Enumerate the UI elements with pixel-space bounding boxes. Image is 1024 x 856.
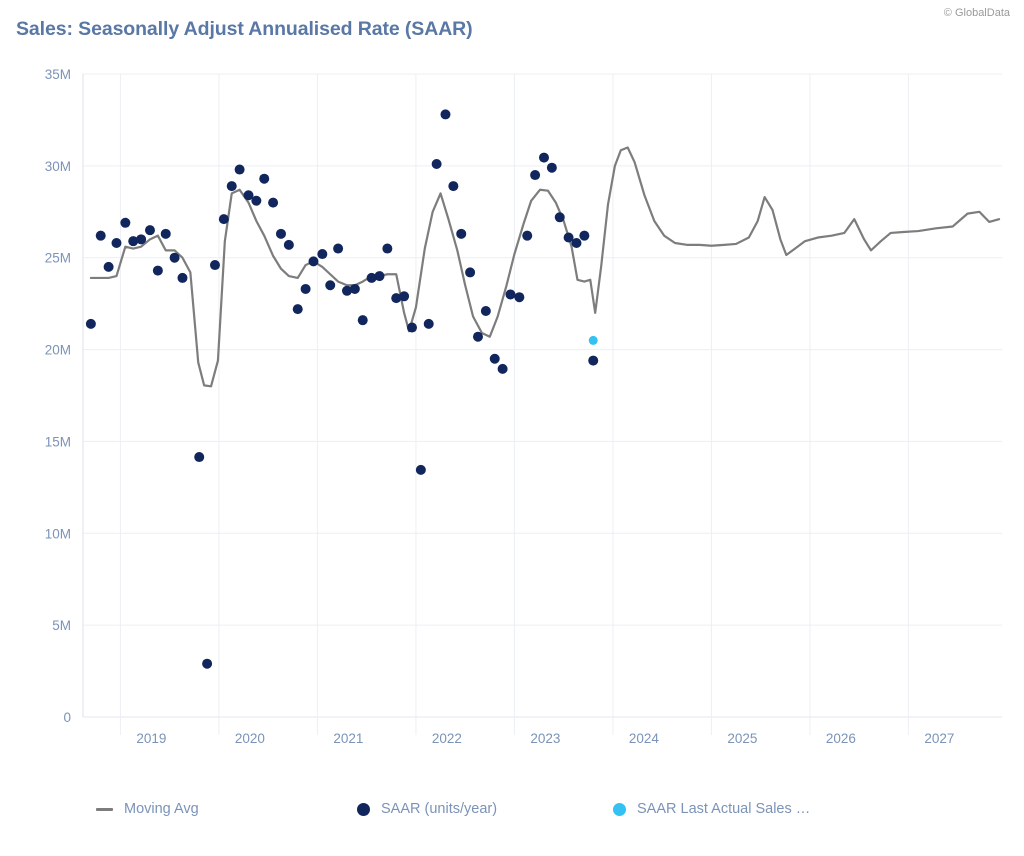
data-point[interactable] — [111, 238, 121, 248]
gridlines — [83, 74, 1002, 735]
data-point[interactable] — [194, 452, 204, 462]
data-point[interactable] — [104, 262, 114, 272]
moving-avg-line — [91, 147, 999, 386]
y-axis-tick-label: 15M — [45, 434, 71, 449]
data-point[interactable] — [284, 240, 294, 250]
data-point[interactable] — [555, 212, 565, 222]
data-point[interactable] — [490, 354, 500, 364]
legend-item-saar[interactable]: SAAR (units/year) — [357, 798, 497, 820]
y-axis-tick-label: 5M — [52, 618, 71, 633]
x-axis-tick-label: 2022 — [432, 731, 462, 746]
data-point[interactable] — [276, 229, 286, 239]
data-point[interactable] — [227, 181, 237, 191]
data-point[interactable] — [325, 280, 335, 290]
data-point[interactable] — [293, 304, 303, 314]
data-point[interactable] — [514, 292, 524, 302]
data-point[interactable] — [382, 244, 392, 254]
legend-item-saar-last-actual[interactable]: SAAR Last Actual Sales … — [613, 798, 810, 820]
chart-container: Sales: Seasonally Adjust Annualised Rate… — [0, 0, 1024, 856]
x-axis-tick-label: 2019 — [136, 731, 166, 746]
y-axis-tick-labels: 05M10M15M20M25M30M35M — [45, 67, 71, 725]
legend-item-label: SAAR (units/year) — [381, 801, 497, 817]
data-point[interactable] — [136, 234, 146, 244]
x-axis-tick-label: 2025 — [727, 731, 757, 746]
data-point[interactable] — [456, 229, 466, 239]
data-point[interactable] — [399, 291, 409, 301]
dot-marker-icon — [613, 803, 626, 816]
data-point[interactable] — [120, 218, 130, 228]
data-point[interactable] — [448, 181, 458, 191]
y-axis-tick-label: 30M — [45, 159, 71, 174]
x-axis-tick-label: 2020 — [235, 731, 265, 746]
x-axis-tick-label: 2027 — [924, 731, 954, 746]
saar-scatter-chart: 05M10M15M20M25M30M35M 201920202021202220… — [0, 0, 1024, 790]
data-point[interactable] — [301, 284, 311, 294]
x-axis-tick-labels: 201920202021202220232024202520262027 — [136, 731, 954, 746]
line-marker-icon — [96, 808, 113, 811]
plot-area: 05M10M15M20M25M30M35M 201920202021202220… — [0, 0, 1024, 790]
x-axis-tick-label: 2021 — [333, 731, 363, 746]
y-axis-tick-label: 10M — [45, 526, 71, 541]
data-point[interactable] — [539, 153, 549, 163]
data-point[interactable] — [333, 244, 343, 254]
data-point[interactable] — [432, 159, 442, 169]
saar-data-points — [86, 109, 598, 668]
data-point[interactable] — [177, 273, 187, 283]
legend-item-label: SAAR Last Actual Sales … — [637, 801, 810, 817]
data-point[interactable] — [374, 271, 384, 281]
data-point[interactable] — [589, 336, 598, 345]
data-point[interactable] — [473, 332, 483, 342]
series-line — [91, 147, 999, 386]
y-axis-tick-label: 35M — [45, 67, 71, 82]
y-axis-tick-label: 20M — [45, 343, 71, 358]
data-point[interactable] — [465, 267, 475, 277]
data-point[interactable] — [317, 249, 327, 259]
data-point[interactable] — [588, 356, 598, 366]
data-point[interactable] — [170, 253, 180, 263]
data-point[interactable] — [505, 289, 515, 299]
legend-item-label: Moving Avg — [124, 801, 199, 817]
data-point[interactable] — [202, 659, 212, 669]
data-point[interactable] — [440, 109, 450, 119]
data-point[interactable] — [358, 315, 368, 325]
data-point[interactable] — [498, 364, 508, 374]
data-point[interactable] — [407, 323, 417, 333]
y-axis-tick-label: 0 — [63, 710, 71, 725]
x-axis-tick-label: 2026 — [826, 731, 856, 746]
data-point[interactable] — [571, 238, 581, 248]
data-point[interactable] — [416, 465, 426, 475]
data-point[interactable] — [210, 260, 220, 270]
data-point[interactable] — [259, 174, 269, 184]
data-point[interactable] — [96, 231, 106, 241]
data-point[interactable] — [579, 231, 589, 241]
data-point[interactable] — [145, 225, 155, 235]
data-point[interactable] — [481, 306, 491, 316]
y-axis-tick-label: 25M — [45, 251, 71, 266]
data-point[interactable] — [153, 266, 163, 276]
x-axis-tick-label: 2023 — [530, 731, 560, 746]
data-point[interactable] — [161, 229, 171, 239]
data-point[interactable] — [86, 319, 96, 329]
legend-item-moving-avg[interactable]: Moving Avg — [96, 798, 199, 820]
data-point[interactable] — [547, 163, 557, 173]
data-point[interactable] — [530, 170, 540, 180]
data-point[interactable] — [308, 256, 318, 266]
data-point[interactable] — [268, 198, 278, 208]
data-point[interactable] — [251, 196, 261, 206]
dot-marker-icon — [357, 803, 370, 816]
data-point[interactable] — [522, 231, 532, 241]
data-point[interactable] — [424, 319, 434, 329]
data-point[interactable] — [350, 284, 360, 294]
data-point[interactable] — [219, 214, 229, 224]
chart-legend: Moving Avg SAAR (units/year) SAAR Last A… — [0, 798, 1024, 838]
data-point[interactable] — [235, 165, 245, 175]
x-axis-tick-label: 2024 — [629, 731, 660, 746]
